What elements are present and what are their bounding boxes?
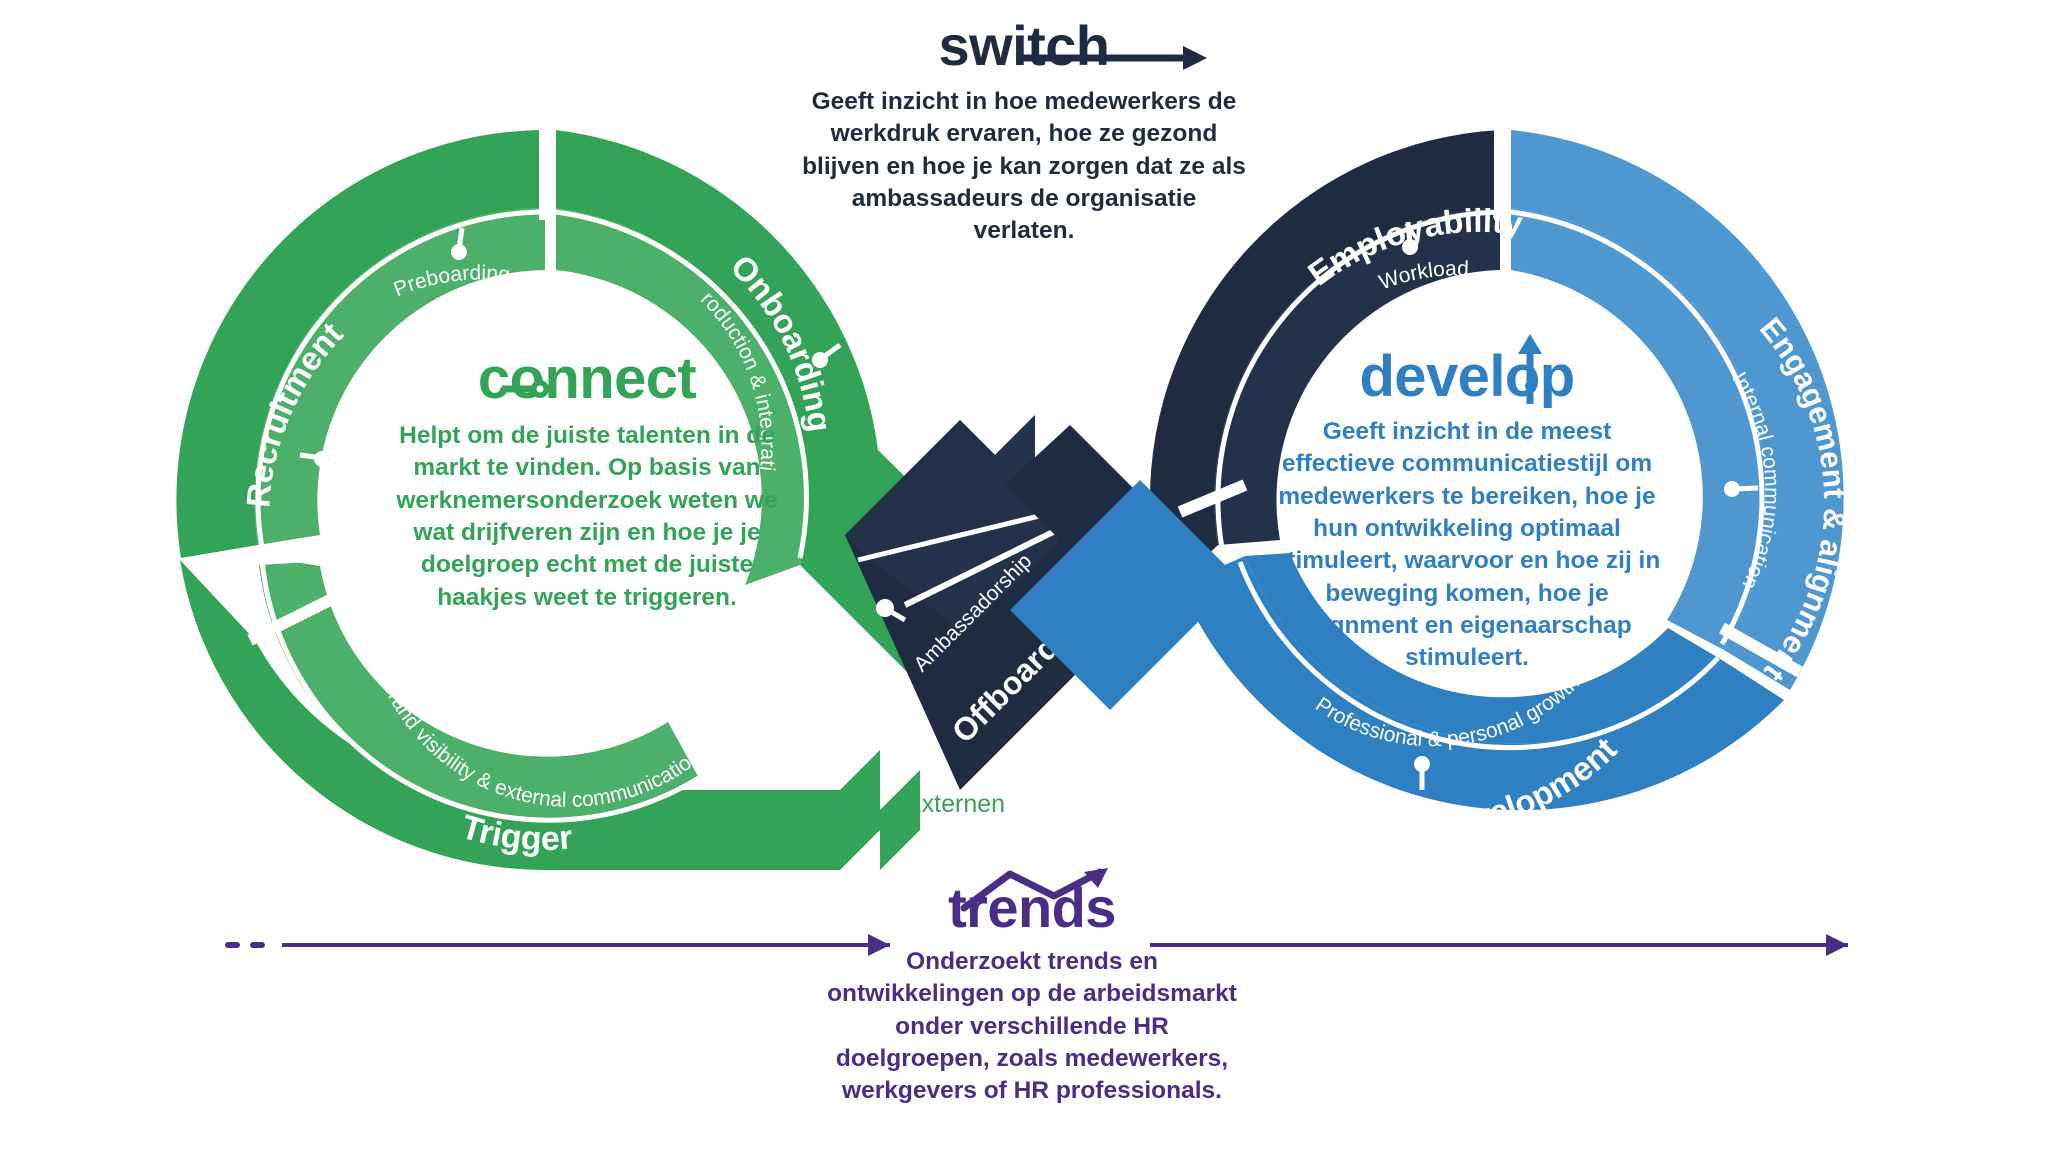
switch-logo-text: switch	[939, 14, 1110, 77]
trends-block: trends Onderzoekt trends en ontwikkeling…	[852, 880, 1212, 1108]
trends-logo-text: trends	[948, 876, 1116, 939]
divider-mid-left	[258, 556, 330, 560]
develop-logo: develop	[1359, 348, 1574, 406]
externen-label: Externen	[905, 790, 1005, 819]
connect-block: connect Helpt om de juiste talenten in d…	[392, 350, 782, 614]
connect-logo-text: connect	[478, 346, 696, 411]
trends-logo: trends	[948, 880, 1116, 936]
connect-logo: connect	[478, 350, 696, 408]
switch-logo: switch	[939, 18, 1110, 74]
switch-description: Geeft inzicht in hoe medewerkers de werk…	[800, 86, 1248, 248]
infographic-canvas: Recruitment Onboarding Trigger Preboardi…	[0, 0, 2048, 1155]
connect-description: Helpt om de juiste talenten in de markt …	[392, 420, 782, 614]
develop-logo-text: develop	[1359, 344, 1574, 409]
right-arrowhead-icon	[1826, 934, 1848, 956]
develop-description: Geeft inzicht in de meest effectieve com…	[1272, 416, 1662, 675]
develop-block: develop Geeft inzicht in de meest effect…	[1272, 348, 1662, 675]
trends-description: Onderzoekt trends en ontwikkelingen op d…	[822, 946, 1242, 1108]
switch-block: switch Geeft inzicht in hoe medewerkers …	[800, 18, 1248, 248]
